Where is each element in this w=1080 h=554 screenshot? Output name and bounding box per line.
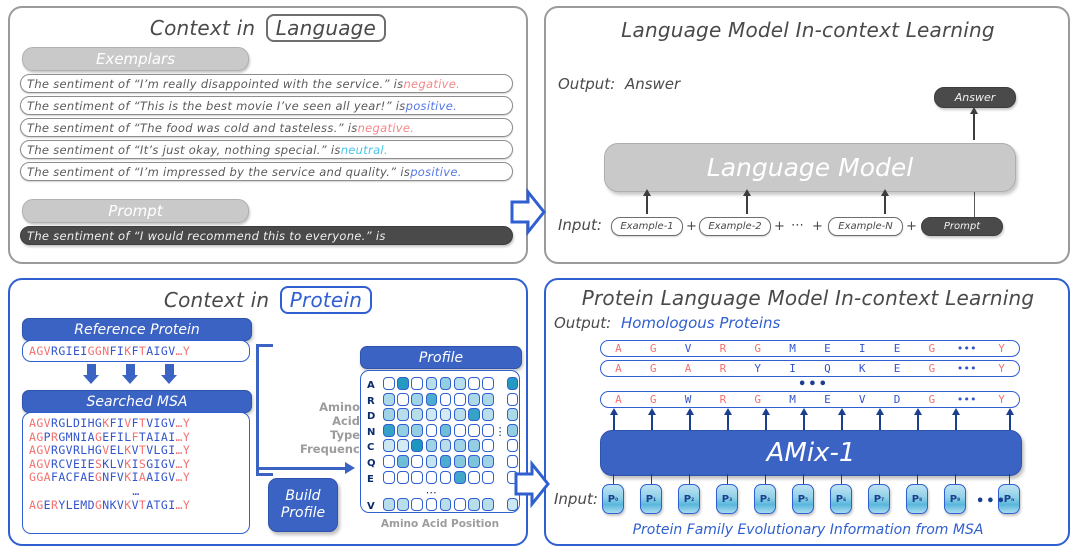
amix-model-box: AMix-1 [600,430,1022,476]
token-up-arrow-icon [765,413,767,430]
profile-cell [468,498,480,511]
answer-chip[interactable]: Answer [934,87,1016,108]
profile-tag: Profile [360,346,522,369]
prompt-row: The sentiment of “I would recommend this… [20,226,513,245]
residue-span: V [132,498,139,512]
residue-span: CFAE [66,470,95,484]
token-down-line [765,474,767,484]
output-value: Answer [625,75,680,93]
output-label-row: Output: Answer [558,75,680,93]
msa-sequence-line: AGPRGMNIAGEFILFTAIAI…Y [29,431,249,445]
profile-cell [426,393,438,406]
input-label: Input: [558,216,602,234]
input-token[interactable]: P₂ [678,484,700,514]
residue-span: ATGI [146,498,175,512]
output-residue: R [705,393,740,406]
token-down-line [613,474,615,484]
exemplar-text: The sentiment of “I’m impressed by the s… [27,165,410,179]
freq-line-1: Amino [300,400,360,414]
token-up-arrow-icon [613,413,615,430]
output-residue: Y [984,393,1019,406]
profile-row-label: R [367,396,375,407]
output-residue: A [601,342,636,355]
profile-cell [482,377,494,390]
profile-cell [411,455,423,468]
plm-caption: Protein Family Evolutionary Information … [536,522,1080,538]
output-residue: E [810,393,845,406]
profile-cell [383,455,395,468]
output-residue: D [880,393,915,406]
token-up-arrow-icon [955,413,957,430]
output-residue: W [671,393,706,406]
exemplar-label: negative. [358,121,415,135]
freq-line-3: Type [300,428,360,442]
residue-span: AGV [29,416,51,430]
residue-span: E [44,498,51,512]
residue-span: I [132,457,139,471]
profile-row-label: N [367,427,375,438]
profile-cell [454,455,466,468]
profile-row-label: Q [367,458,376,469]
plus-4: + [906,219,917,234]
output-residue: V [671,342,706,355]
profile-cell [468,439,480,452]
token-up-arrow-icon [803,413,805,430]
exemplar-text: The sentiment of “This is the best movie… [27,99,406,113]
residue-span: A [58,470,65,484]
profile-cell [397,408,409,421]
output-residue: R [705,362,740,375]
profile-heatmap: ARDNCQEV⋮⋯ [361,371,519,512]
residue-span: …Y [176,416,191,430]
residue-span: K [124,470,131,484]
output-residue: Y [740,362,775,375]
output-residue: A [601,393,636,406]
input-token[interactable]: P₆ [830,484,852,514]
panel-context-language: Context in Language Exemplars The sentim… [0,0,536,272]
output-residue: M [775,342,810,355]
residue-span: GIEI [58,344,87,358]
residue-span: GIGV [146,457,175,471]
exemplar-label: negative. [403,77,460,91]
residue-span: FI [110,416,125,430]
exemplar-row: The sentiment of “It’s just okay, nothin… [20,140,513,159]
exemplar-text: The sentiment of “I’m really disappointe… [27,77,403,91]
profile-cell [482,439,494,452]
exemplar-text: The sentiment of “The food was cold and … [27,121,358,135]
profile-cell [482,471,494,484]
profile-cell [426,377,438,390]
profile-cell [440,498,452,511]
residue-span: GGA [29,470,51,484]
residue-span: V [124,416,131,430]
token-down-line [651,474,653,484]
profile-cell [454,471,466,484]
build-profile-button[interactable]: Build Profile [268,478,338,532]
residue-span: EL [110,443,125,457]
profile-row-label: V [367,501,375,512]
msa-sequence-line: AGERYLEMDGNKVKVTATGI…Y [29,499,249,513]
profile-cell [383,408,395,421]
residue-span: AIGV [146,470,175,484]
profile-cell [454,377,466,390]
profile-cell [397,498,409,511]
residue-span: …Y [176,498,191,512]
profile-cell [440,393,452,406]
profile-cell [426,455,438,468]
profile-cell [507,439,519,452]
profile-x-axis-label: Amino Acid Position [360,518,520,530]
residue-span: F [132,344,139,358]
output-label: Output: [558,75,615,93]
arrow-protein-to-plm-icon [512,460,552,508]
profile-cell [397,439,409,452]
residue-span: AIAI [146,430,175,444]
token-up-arrow-icon [651,413,653,430]
output-residue: G [636,393,671,406]
msa-sequence-line: AGVRCVEIESKLVKISGIGV…Y [29,458,249,472]
input-token[interactable]: P₈ [906,484,928,514]
residue-span: AG [29,498,44,512]
residue-span: VIGV [146,416,175,430]
residue-span: LDIHG [66,416,103,430]
profile-row-label: A [367,380,375,391]
residue-span: …Y [176,344,191,358]
msa-sequence-line: GGAFACFAEGNFVKIAAIGV…Y [29,471,249,485]
output-residue: G [914,342,949,355]
residue-span: KLV [102,457,124,471]
exemplar-text: The sentiment of “It’s just okay, nothin… [27,143,341,157]
input-chip-example-n[interactable]: Example-N [828,217,903,236]
output-residue: A [601,362,636,375]
profile-cell [383,471,395,484]
output-residue: A [671,362,706,375]
profile-cell [482,393,494,406]
residue-span: YLEMD [58,498,95,512]
profile-cell [468,377,480,390]
residue-span: K [102,416,109,430]
exemplar-label: positive. [406,99,457,113]
profile-cell [397,424,409,437]
output-label: Output: [554,314,611,332]
profile-cell [397,393,409,406]
exemplar-label: positive. [410,165,461,179]
profile-cell [507,424,519,437]
token-down-line [689,474,691,484]
profile-cell [468,408,480,421]
token-down-line [917,474,919,484]
output-residue: V [845,393,880,406]
token-up-arrow-icon [879,413,881,430]
exemplar-row: The sentiment of “The food was cold and … [20,118,513,137]
profile-cell [383,393,395,406]
profile-cell [468,471,480,484]
residue-span: K [124,498,131,512]
residue-span: GMNIA [58,430,95,444]
token-up-arrow-icon [841,413,843,430]
profile-cell [440,377,452,390]
profile-cell [411,393,423,406]
msa-sequences: AGVRGLDIHGKFIVFTVIGV…YAGPRGMNIAGEFILFTAI… [23,413,249,512]
profile-row-ellipsis: ⋯ [426,486,438,499]
input-label: Input: [554,490,598,508]
profile-cell [383,439,395,452]
residue-span: AIGV [146,344,175,358]
reference-protein-box: AGVRGIEIGGNFIKFTAIGV…Y [22,340,250,362]
token-down-line [879,474,881,484]
residue-span: F [132,430,139,444]
align-arrow-1-icon [87,364,96,376]
output-residue: Y [984,342,1019,355]
token-ellipsis: ••• [976,494,1007,509]
align-arrow-3-icon [165,364,174,376]
input-chip-prompt[interactable]: Prompt [921,217,1003,236]
profile-row-label: E [367,474,374,485]
residue-span: K [124,344,131,358]
reference-protein-tag: Reference Protein [22,318,252,341]
input-chip-example-2[interactable]: Example-2 [699,217,771,236]
profile-cell [383,498,395,511]
input-token[interactable]: P₄ [754,484,776,514]
token-up-arrow-icon [727,413,729,430]
output-residue: Y [984,362,1019,375]
profile-cell [397,471,409,484]
frequency-axis-label: Amino Acid Type Frequency [300,400,360,456]
profile-row-label: D [367,411,375,422]
lm-icl-title: Language Model In-context Learning [536,18,1080,42]
profile-cell [454,439,466,452]
residue-span: K [124,457,131,471]
profile-cell [411,471,423,484]
profile-col-ellipsis: ⋮ [495,425,507,438]
exampleN-arrow-up-icon [884,194,886,214]
profile-cell [440,471,452,484]
exemplars-tag: Exemplars [22,47,249,71]
freq-line-2: Acid [300,414,360,428]
output-sequence-row: AGWRGMEVDG•••Y [600,391,1020,408]
build-label-line2: Profile [281,505,325,522]
residue-span: P [44,430,51,444]
align-arrow-2-icon [126,364,135,376]
residue-span: V [102,443,109,457]
residue-span: NKV [102,498,124,512]
input-token[interactable]: P₅ [792,484,814,514]
output-residue: G [740,342,775,355]
residue-span: AGV [29,443,51,457]
output-residue: G [740,393,775,406]
exemplar-row: The sentiment of “I’m impressed by the s… [20,162,513,181]
input-token[interactable]: P₀ [602,484,624,514]
panel-lm-icl: Language Model In-context Learning Outpu… [536,0,1080,272]
exemplar-row: The sentiment of “I’m really disappointe… [20,74,513,93]
residue-span: G [58,443,65,457]
profile-cell [507,408,519,421]
answer-arrow-up-icon [973,112,975,140]
plm-icl-title: Protein Language Model In-context Learni… [536,286,1080,310]
output-residue: E [880,342,915,355]
panel-context-protein: Context in Protein Reference Protein AGV… [0,272,536,554]
residue-span: VLGI [146,443,175,457]
exemplar-row: The sentiment of “This is the best movie… [20,96,513,115]
plus-2: + [774,219,785,234]
residue-span: VRLHG [66,443,103,457]
build-label-line1: Build [285,488,320,505]
profile-cell [426,408,438,421]
profile-cell [426,471,438,484]
output-residue: G [636,362,671,375]
residue-span: AGV [29,457,51,471]
profile-cell [397,377,409,390]
output-residue: E [880,362,915,375]
profile-row-label: C [367,442,374,453]
residue-span: …Y [176,457,191,471]
title-prefix: Context in [150,16,255,40]
output-sequence-row: AGVRGMEIEG•••Y [600,340,1020,357]
residue-span: FI [110,344,125,358]
input-token[interactable]: P₁ [640,484,662,514]
title-prefix: Context in [164,288,269,312]
exemplar-label: neutral. [341,143,388,157]
profile-cell [507,393,519,406]
freq-line-4: Frequency [300,442,360,456]
msa-sequence-line: AGVRGVRLHGVELKVTVLGI…Y [29,444,249,458]
profile-cell [482,498,494,511]
residue-span: EFIL [102,430,131,444]
input-token[interactable]: P₇ [868,484,890,514]
residue-span: F [132,416,139,430]
residue-span: G [58,416,65,430]
output-residue: R [705,342,740,355]
panel-plm-icl: Protein Language Model In-context Learni… [536,272,1080,554]
output-label-row: Output: Homologous Proteins [554,314,780,332]
output-sequence-row: AGARYIQKEG•••Y [600,360,1020,377]
output-sequence-ellipsis: ••• [798,377,829,392]
profile-cell [454,498,466,511]
profile-cell [468,455,480,468]
example1-arrow-up-icon [646,194,648,214]
output-residue: Q [810,362,845,375]
output-residue: M [775,393,810,406]
profile-cell [482,408,494,421]
residue-span: C [58,457,65,471]
residue-span: GGN [88,344,110,358]
searched-msa-tag: Searched MSA [22,390,252,413]
residue-span: …Y [176,443,191,457]
token-up-arrow-icon [689,413,691,430]
context-language-title: Context in Language [0,14,536,42]
output-residue: G [636,342,671,355]
residue-span: VEIE [66,457,95,471]
profile-cell [383,424,395,437]
profile-cell [411,424,423,437]
output-residue: I [845,342,880,355]
arrow-language-to-lm-icon [508,188,548,236]
residue-span: V [132,443,139,457]
profile-cell [411,408,423,421]
output-residue: G [914,362,949,375]
prompt-to-model-line [974,190,976,220]
output-residue: I [775,362,810,375]
profile-cell [440,455,452,468]
output-residue: K [845,362,880,375]
token-down-line [841,474,843,484]
profile-cell [426,424,438,437]
token-down-line [803,474,805,484]
input-token[interactable]: P₃ [716,484,738,514]
profile-cell [482,455,494,468]
input-chip-example-1[interactable]: Example-1 [611,217,683,236]
language-model-box: Language Model [604,143,1016,192]
token-up-arrow-icon [1009,413,1011,430]
profile-cell [383,377,395,390]
profile-cell [426,498,438,511]
token-up-arrow-icon [917,413,919,430]
profile-cell [440,408,452,421]
profile-cell [454,424,466,437]
output-value: Homologous Proteins [621,314,780,332]
reference-sequence: AGVRGIEIGGNFIKFTAIGV…Y [23,341,249,359]
profile-heatmap-box: ARDNCQEV⋮⋯ [360,370,520,513]
profile-cell [468,424,480,437]
profile-cell [507,377,519,390]
output-residue: ••• [949,362,984,375]
profile-cell [440,424,452,437]
residue-span: K [124,443,131,457]
residue-span: AG [29,430,44,444]
build-profile-arrow-icon [256,467,346,470]
context-protein-title: Context in Protein [0,286,536,314]
residue-span: I [132,470,139,484]
title-chip-protein: Protein [280,286,372,314]
searched-msa-box: AGVRGLDIHGKFIVFTVIGV…YAGPRGMNIAGEFILFTAI… [22,412,250,534]
residue-span: …Y [176,470,191,484]
msa-bracket-icon [256,344,273,476]
token-down-line [727,474,729,484]
plus-3: + [812,219,823,234]
profile-cell [397,455,409,468]
input-ellipsis: ⋯ [791,218,804,233]
profile-cell [411,498,423,511]
output-residue: E [810,342,845,355]
msa-sequence-line: AGVRGLDIHGKFIVFTVIGV…Y [29,417,249,431]
profile-cell [482,424,494,437]
token-down-line [955,474,957,484]
plus-1: + [686,219,697,234]
profile-cell [411,439,423,452]
title-chip-language: Language [266,14,386,42]
prompt-tag: Prompt [22,199,249,223]
msa-sequence-line: … [29,485,249,499]
example2-arrow-up-icon [746,194,748,214]
residue-span: NFV [102,470,124,484]
profile-cell [454,393,466,406]
token-down-line [1009,474,1011,484]
input-token[interactable]: P₉ [944,484,966,514]
profile-cell [468,393,480,406]
profile-cell [440,439,452,452]
output-residue: ••• [949,393,984,406]
profile-cell [426,439,438,452]
residue-span: …Y [176,430,191,444]
residue-span: AGV [29,344,51,358]
output-residue: ••• [949,342,984,355]
output-residue: G [914,393,949,406]
profile-cell [411,377,423,390]
profile-cell [454,408,466,421]
